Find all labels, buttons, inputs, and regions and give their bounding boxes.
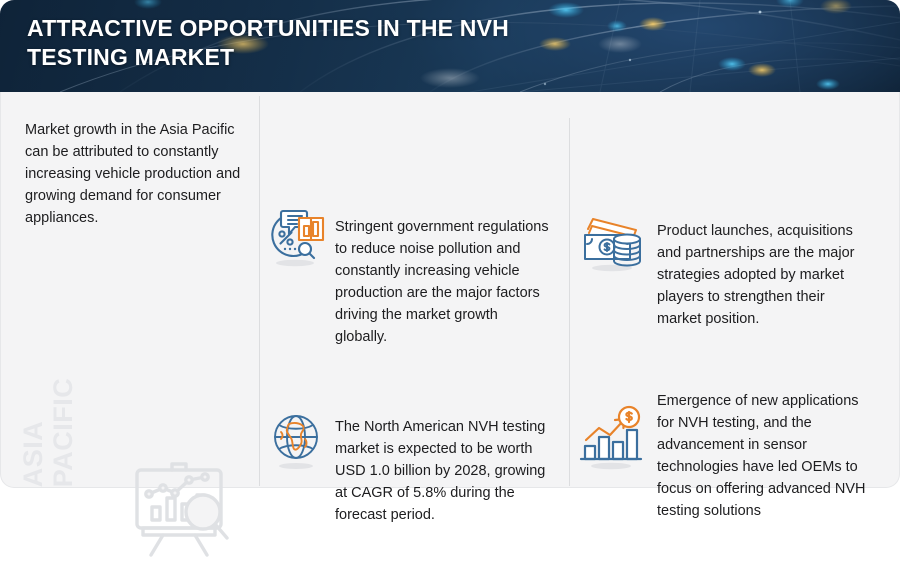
insight-paragraph: Stringent government regulations to redu… (335, 216, 551, 348)
globe-icon (265, 410, 327, 472)
insight-paragraph: Emergence of new applications for NVH te… (657, 390, 871, 522)
content-card: Market growth in the Asia Pacific can be… (0, 92, 900, 488)
asia-pacific-paragraph: Market growth in the Asia Pacific can be… (25, 119, 243, 229)
page-title: Attractive Opportunities in the NVH Test… (27, 14, 527, 72)
insight-paragraph: The North American NVH testing market is… (335, 416, 553, 526)
header-banner: Attractive Opportunities in the NVH Test… (0, 0, 900, 92)
insight-paragraph: Product launches, acquisitions and partn… (657, 220, 869, 330)
analytics-percent-bars-magnifier-icon (263, 204, 327, 268)
watermark-region-label: Asia Pacific (18, 357, 78, 487)
column-divider-2 (569, 118, 570, 486)
column-divider-1 (259, 96, 260, 486)
presentation-chart-magnifier-icon (123, 450, 235, 562)
growth-bar-chart-dollar-icon (577, 404, 645, 472)
infographic-root: Attractive Opportunities in the NVH Test… (0, 0, 900, 488)
money-banknotes-coins-icon (579, 208, 645, 274)
